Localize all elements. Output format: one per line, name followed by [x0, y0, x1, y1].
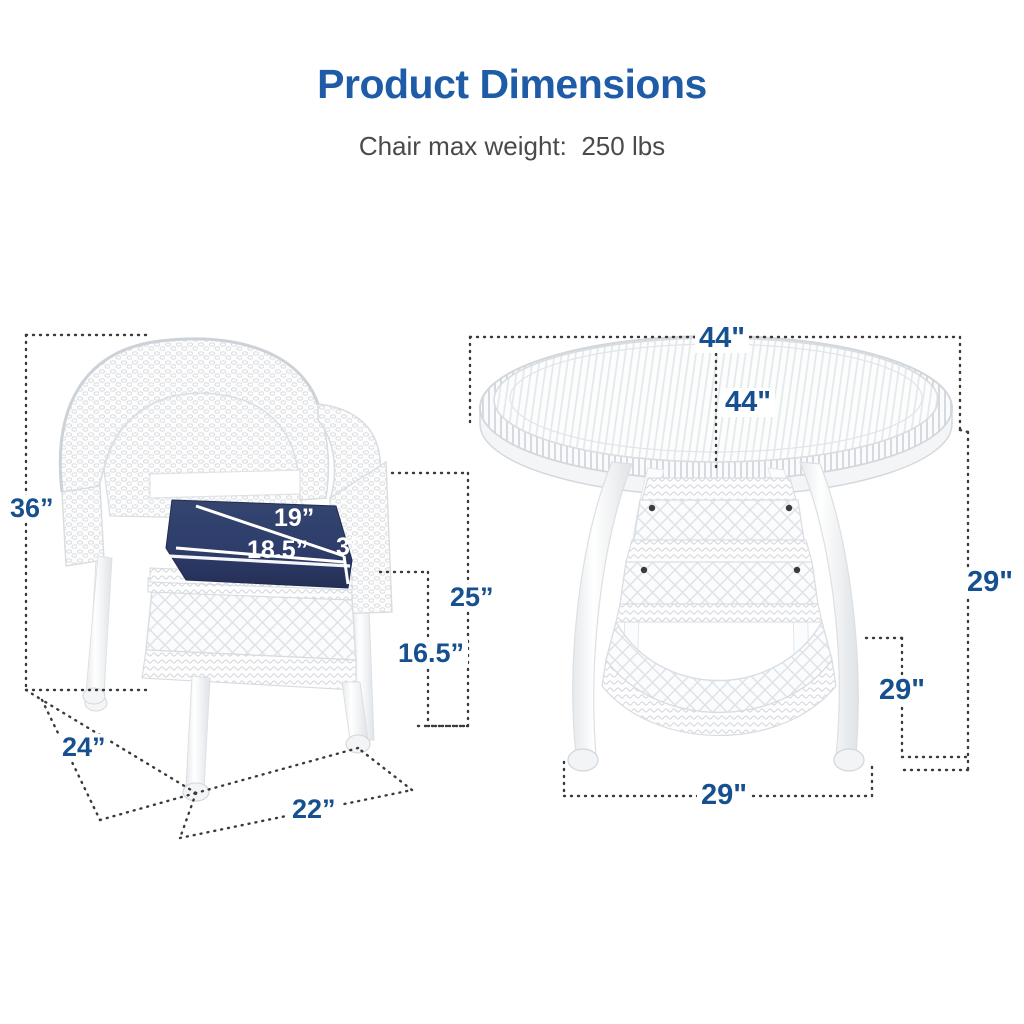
chair-depth-label: 24” — [58, 734, 110, 761]
table-base-side-label: 29" — [875, 676, 929, 705]
table-top-diameter-label: 44" — [695, 324, 749, 353]
cushion-depth-label: 19” — [274, 506, 314, 531]
table-base-front-label: 29" — [697, 781, 751, 810]
chair-width-label: 22” — [288, 796, 340, 823]
wicker-chair-illustration — [60, 339, 392, 801]
page-title: Product Dimensions — [0, 62, 1024, 107]
chair-seat-depth-label: 25” — [446, 584, 498, 611]
table-top-depth-label: 44" — [721, 388, 775, 417]
chair-height-label: 36” — [6, 495, 58, 522]
page-subtitle: Chair max weight: 250 lbs — [0, 131, 1024, 162]
product-dimensions-page: Product Dimensions Chair max weight: 250… — [0, 0, 1024, 1024]
cushion-width-label: 18.5” — [247, 538, 308, 563]
table-height-label: 29" — [963, 568, 1017, 597]
cushion-thickness-label: 3” — [336, 535, 362, 560]
chair-seat-height-label: 16.5” — [394, 640, 468, 667]
